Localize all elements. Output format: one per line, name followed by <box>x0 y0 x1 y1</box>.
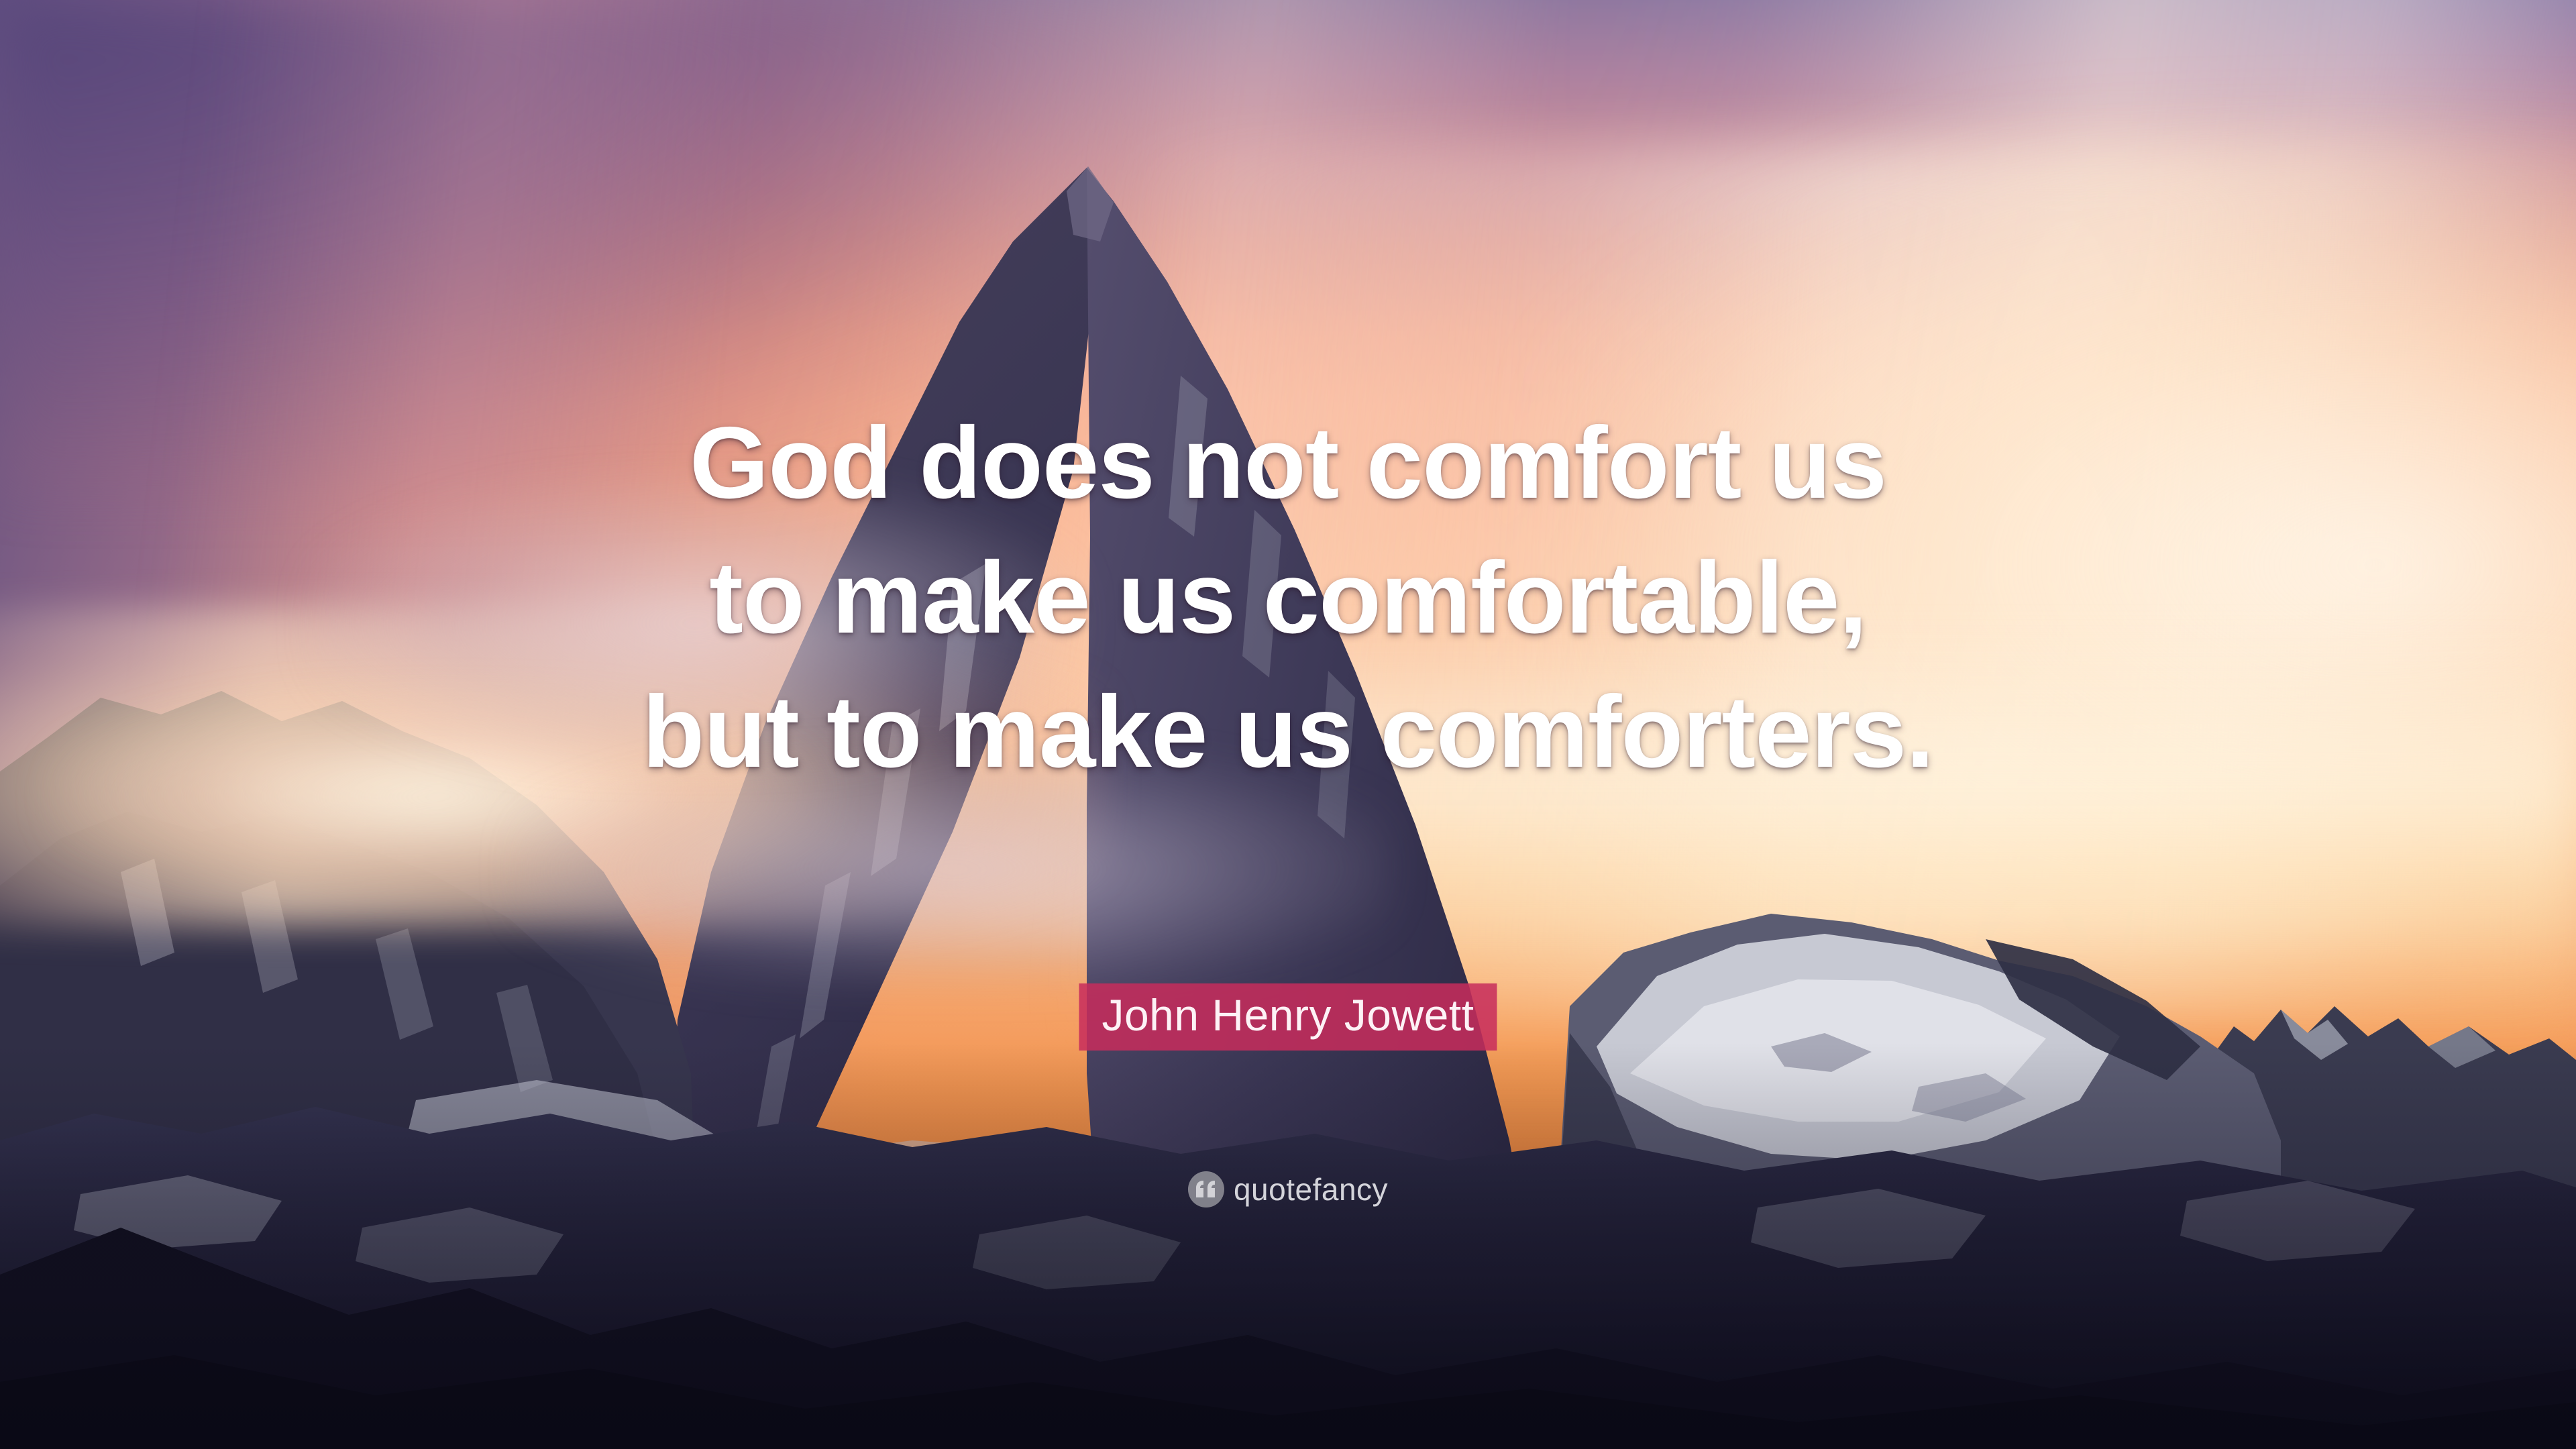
quote-line-1: God does not comfort us <box>0 396 2576 531</box>
quote-mark-icon <box>1188 1171 1224 1207</box>
quote-text: God does not comfort us to make us comfo… <box>0 396 2576 800</box>
watermark[interactable]: quotefancy <box>1188 1171 1388 1207</box>
quote-poster: God does not comfort us to make us comfo… <box>0 0 2576 1449</box>
quote-line-2: to make us comfortable, <box>0 531 2576 665</box>
author-badge: John Henry Jowett <box>1079 983 1497 1051</box>
quote-line-3: but to make us comforters. <box>0 665 2576 800</box>
watermark-brand: quotefancy <box>1234 1174 1388 1205</box>
bottom-vignette <box>0 1043 2576 1449</box>
author-name: John Henry Jowett <box>1102 993 1474 1037</box>
